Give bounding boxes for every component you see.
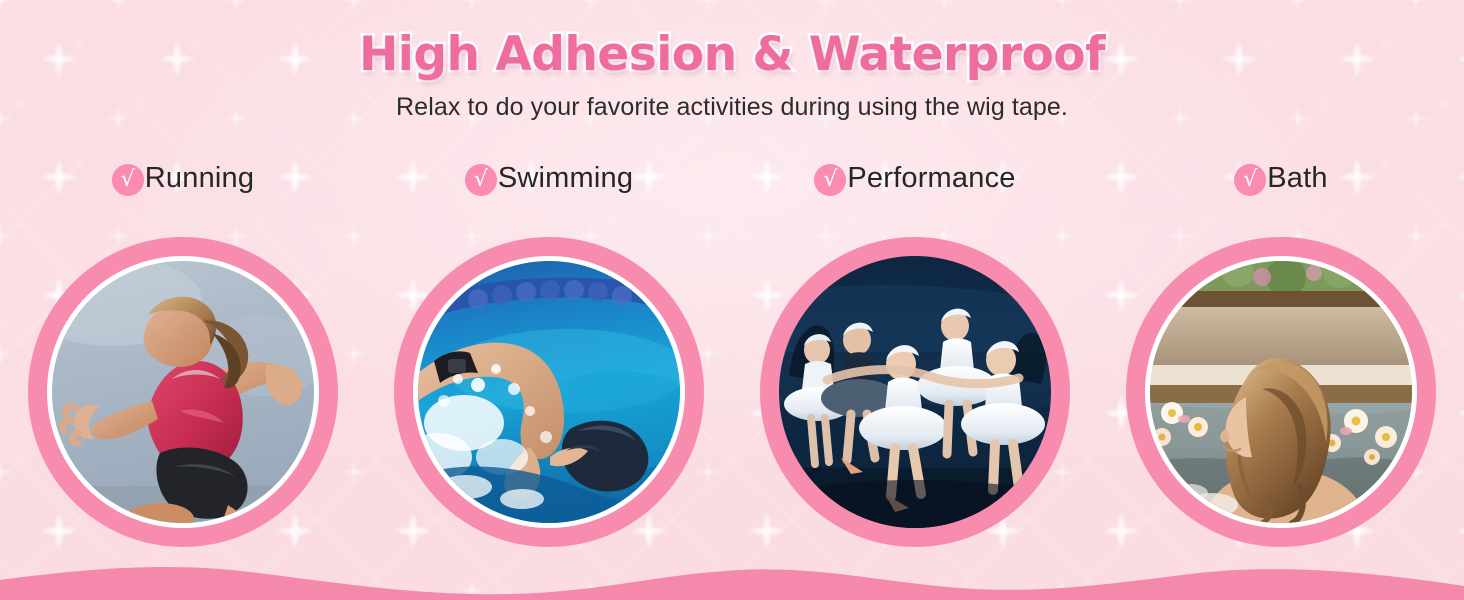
- feature-photo-swimming: [366, 237, 732, 547]
- page-subtitle: Relax to do your favorite activities dur…: [0, 93, 1464, 122]
- photo-frame: [394, 237, 704, 547]
- bath-photo: [1150, 261, 1412, 523]
- photo-frame: [1126, 237, 1436, 547]
- performance-photo: [779, 256, 1051, 528]
- check-icon: √: [1234, 164, 1266, 196]
- swimming-photo: [418, 261, 680, 523]
- feature-photo-performance: [732, 237, 1098, 547]
- photo-frame: [760, 237, 1070, 547]
- photo-frame: [28, 237, 338, 547]
- check-icon: √: [112, 164, 144, 196]
- check-icon: √: [465, 164, 497, 196]
- feature-label-running: √ Running: [0, 162, 366, 195]
- feature-photo-row: [0, 237, 1464, 547]
- check-icon: √: [814, 164, 846, 196]
- feature-label-bath: √ Bath: [1098, 162, 1464, 195]
- photo-inner-ring: [1145, 256, 1417, 528]
- feature-label-text: Swimming: [498, 162, 633, 195]
- feature-label-text: Performance: [847, 162, 1015, 195]
- feature-label-text: Bath: [1267, 162, 1327, 195]
- feature-label-row: √ Running √ Swimming √ Performance √ Bat…: [0, 162, 1464, 195]
- feature-label-performance: √ Performance: [732, 162, 1098, 195]
- promo-banner: High Adhesion & Waterproof Relax to do y…: [0, 0, 1464, 600]
- feature-photo-bath: [1098, 237, 1464, 547]
- feature-label-swimming: √ Swimming: [366, 162, 732, 195]
- running-photo: [52, 261, 314, 523]
- photo-inner-ring: [413, 256, 685, 528]
- photo-inner-ring: [47, 256, 319, 528]
- feature-label-text: Running: [145, 162, 254, 195]
- bottom-wave-decoration: [0, 540, 1464, 600]
- photo-inner-ring: [779, 256, 1051, 528]
- page-title: High Adhesion & Waterproof: [0, 27, 1464, 82]
- feature-photo-running: [0, 237, 366, 547]
